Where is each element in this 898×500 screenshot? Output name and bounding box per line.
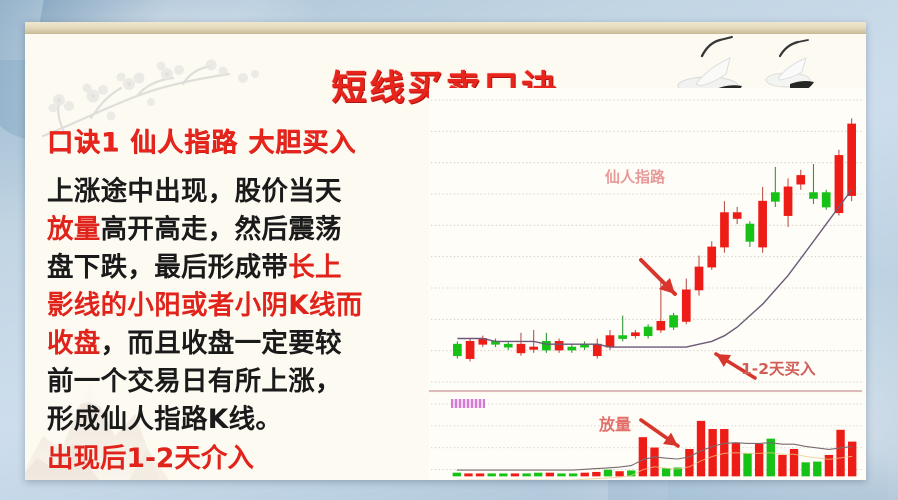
- body-highlight: 长上: [288, 252, 342, 283]
- stock-chart: 仙人指路 1-2天买入 放量: [425, 88, 866, 480]
- body-line: 收盘，而且收盘一定要较: [47, 325, 447, 363]
- card-top-strip: [25, 22, 866, 34]
- body-line-text: 形成仙人指路K线。: [47, 404, 282, 435]
- lesson-conclusion: 出现后1-2天介入: [47, 440, 447, 478]
- body-line-text: 上涨途中出现，股价当天: [47, 176, 342, 207]
- annotation-volume-surge: 放量: [599, 411, 631, 435]
- body-highlight: 影线的小阳或者小阴K线而: [47, 290, 363, 321]
- lesson-body: 上涨途中出现，股价当天 放量高开高走，然后震荡 盘下跌，最后形成带长上 影线的小…: [47, 173, 447, 439]
- body-line: 放量高开高走，然后震荡: [47, 211, 447, 249]
- body-line-text: 盘下跌，最后形成带: [47, 252, 288, 283]
- lesson-text-block: 口诀1 仙人指路 大胆买入 上涨途中出现，股价当天 放量高开高走，然后震荡 盘下…: [47, 122, 447, 478]
- body-line-text: 前一个交易日有所上涨，: [47, 366, 342, 397]
- body-highlight: 收盘: [47, 328, 101, 359]
- body-line-text: ，而且收盘一定要较: [101, 328, 342, 359]
- chart-canvas: [425, 88, 866, 480]
- body-line: 上涨途中出现，股价当天: [47, 173, 447, 211]
- body-line: 盘下跌，最后形成带长上: [47, 249, 447, 287]
- annotation-buy-signal: 1-2天买入: [741, 357, 816, 379]
- volume-panel-label: [451, 399, 485, 408]
- body-line: 前一个交易日有所上涨，: [47, 363, 447, 401]
- lesson-heading: 口诀1 仙人指路 大胆买入: [47, 122, 447, 159]
- body-line: 影线的小阳或者小阴K线而: [47, 287, 447, 325]
- slide-root: 短线买卖口诀 口诀1 仙人指路 大胆买入 上涨途中出现，股价当天 放量高开高走，…: [0, 0, 898, 500]
- annotation-pattern-label: 仙人指路: [605, 166, 665, 187]
- content-card: 短线买卖口诀 口诀1 仙人指路 大胆买入 上涨途中出现，股价当天 放量高开高走，…: [25, 22, 866, 480]
- body-line-text: 高开高走，然后震荡: [101, 214, 342, 245]
- body-highlight: 放量: [47, 214, 101, 245]
- body-line: 形成仙人指路K线。: [47, 401, 447, 439]
